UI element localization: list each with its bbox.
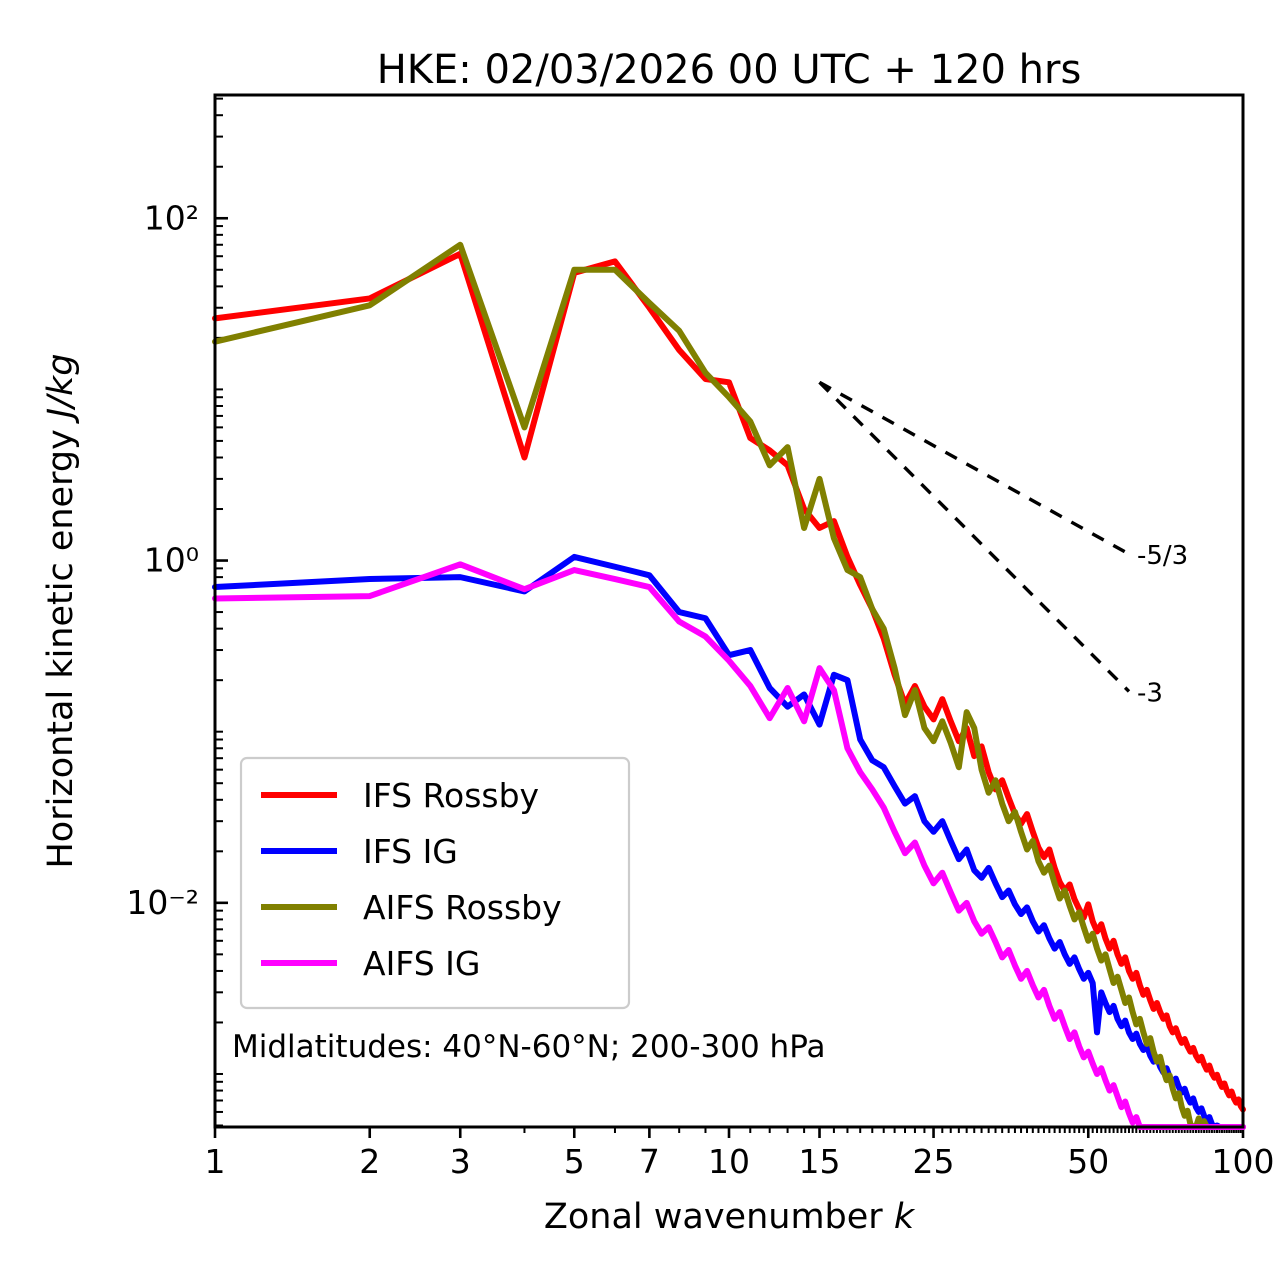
legend-label-aifs-ig[interactable]: AIFS IG [363, 944, 480, 983]
reference-slope-label: -5/3 [1137, 541, 1188, 571]
y-tick-labels: 10²10⁰10⁻² [126, 198, 199, 922]
x-axis-label-main: Zonal wavenumber [544, 1197, 894, 1237]
x-tick-label: 3 [450, 1142, 471, 1181]
x-tick-label: 10 [708, 1142, 750, 1181]
y-tick-label: 10⁻² [126, 883, 199, 922]
y-axis-label-symbol: J/kg [41, 353, 81, 424]
reference-slope-line [820, 382, 1129, 691]
chart-legend[interactable]: IFS RossbyIFS IGAIFS RossbyAIFS IG [241, 758, 629, 1008]
y-tick-label: 10⁰ [144, 541, 199, 580]
legend-label-aifs-rossby[interactable]: AIFS Rossby [363, 888, 562, 927]
chart-title: HKE: 02/03/2026 00 UTC + 120 hrs [377, 47, 1082, 93]
x-tick-label: 15 [799, 1142, 841, 1181]
y-axis-label-main: Horizontal kinetic energy [41, 418, 81, 868]
reference-slope-line [820, 382, 1129, 554]
reference-slope-label: -3 [1137, 678, 1163, 708]
x-tick-label: 50 [1067, 1142, 1109, 1181]
figure-canvas: HKE: 02/03/2026 00 UTC + 120 hrs Zonal w… [0, 0, 1280, 1288]
legend-label-ifs-ig[interactable]: IFS IG [363, 832, 458, 871]
y-tick-label: 10² [144, 198, 199, 237]
x-tick-labels: 1235710152550100 [205, 1142, 1275, 1181]
x-tick-label: 25 [913, 1142, 955, 1181]
x-tick-label: 7 [639, 1142, 660, 1181]
reference-lines-group: -5/3-3 [820, 382, 1189, 708]
x-axis-label-symbol: k [894, 1197, 916, 1237]
x-tick-label: 100 [1212, 1142, 1275, 1181]
x-tick-label: 2 [359, 1142, 380, 1181]
legend-label-ifs-rossby[interactable]: IFS Rossby [363, 776, 539, 815]
region-annotation: Midlatitudes: 40°N-60°N; 200-300 hPa [232, 1029, 826, 1065]
y-axis-label: Horizontal kinetic energy J/kg [41, 353, 81, 868]
x-tick-label: 5 [564, 1142, 585, 1181]
x-tick-label: 1 [205, 1142, 226, 1181]
x-axis-label: Zonal wavenumber k [544, 1197, 916, 1237]
chart-svg: HKE: 02/03/2026 00 UTC + 120 hrs Zonal w… [0, 0, 1280, 1288]
